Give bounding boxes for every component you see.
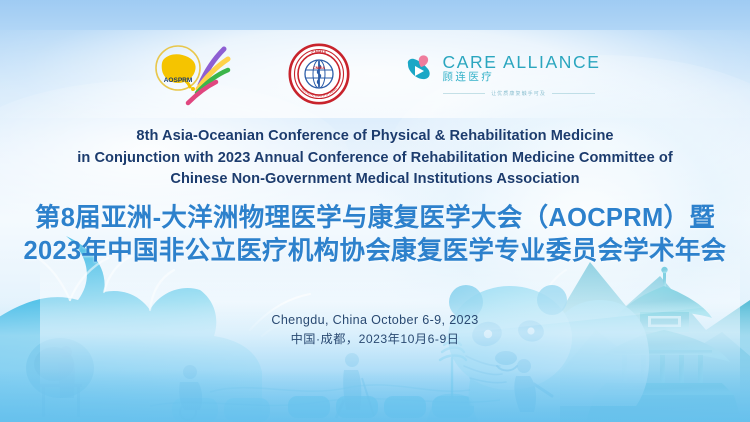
caduceus-base <box>426 400 478 422</box>
title-chinese-line-2: 2023年中国非公立医疗机构协会康复医学专业委员会学术年会 <box>0 235 750 268</box>
care-alliance-tagline: 让优质康复触手可及 <box>443 90 595 97</box>
tagline-text: 让优质康复触手可及 <box>491 90 546 97</box>
title-english: 8th Asia-Oceanian Conference of Physical… <box>0 126 750 191</box>
event-location-date-en: Chengdu, China October 6-9, 2023 <box>0 311 750 329</box>
water-contours <box>150 385 500 406</box>
conference-banner: AOSPRM <box>0 0 750 422</box>
svg-text:AOSPRM: AOSPRM <box>163 77 192 84</box>
sponsor-logo-row: AOSPRM <box>0 38 750 110</box>
title-chinese: 第8届亚洲-大洋洲物理医学与康复医学大会（AOCPRM）暨 2023年中国非公立… <box>0 202 750 268</box>
logo-aosprm: AOSPRM <box>150 41 236 107</box>
care-alliance-name-cn: 顾连医疗 <box>443 71 601 84</box>
conference-title-block: 8th Asia-Oceanian Conference of Physical… <box>0 126 750 268</box>
title-english-line-1: 8th Asia-Oceanian Conference of Physical… <box>0 126 750 148</box>
logo-cnmia: CNMIA MEDICAL INSTITUTIONS CNMIA <box>288 43 350 105</box>
care-alliance-name-en: CARE ALLIANCE <box>443 53 601 71</box>
tagline-rule-right <box>552 93 595 94</box>
tagline-rule-left <box>443 93 486 94</box>
event-location-date-cn: 中国·成都，2023年10月6-9日 <box>0 330 750 349</box>
event-details: Chengdu, China October 6-9, 2023 中国·成都，2… <box>0 311 750 349</box>
ground-wash-deep <box>0 370 750 422</box>
svg-text:CNMIA: CNMIA <box>313 66 325 70</box>
people-silhouettes <box>40 346 552 420</box>
title-chinese-line-1: 第8届亚洲-大洋洲物理医学与康复医学大会（AOCPRM）暨 <box>0 202 750 235</box>
aosprm-logo-icon: AOSPRM <box>150 41 236 107</box>
title-english-line-3: Chinese Non-Government Medical Instituti… <box>0 169 750 191</box>
care-alliance-mark-icon <box>402 52 436 86</box>
logo-care-alliance: CARE ALLIANCE 顾连医疗 让优质康复触手可及 <box>402 52 601 97</box>
title-english-line-2: in Conjunction with 2023 Annual Conferen… <box>0 148 750 170</box>
cnmia-logo-icon: CNMIA MEDICAL INSTITUTIONS CNMIA <box>288 43 350 105</box>
